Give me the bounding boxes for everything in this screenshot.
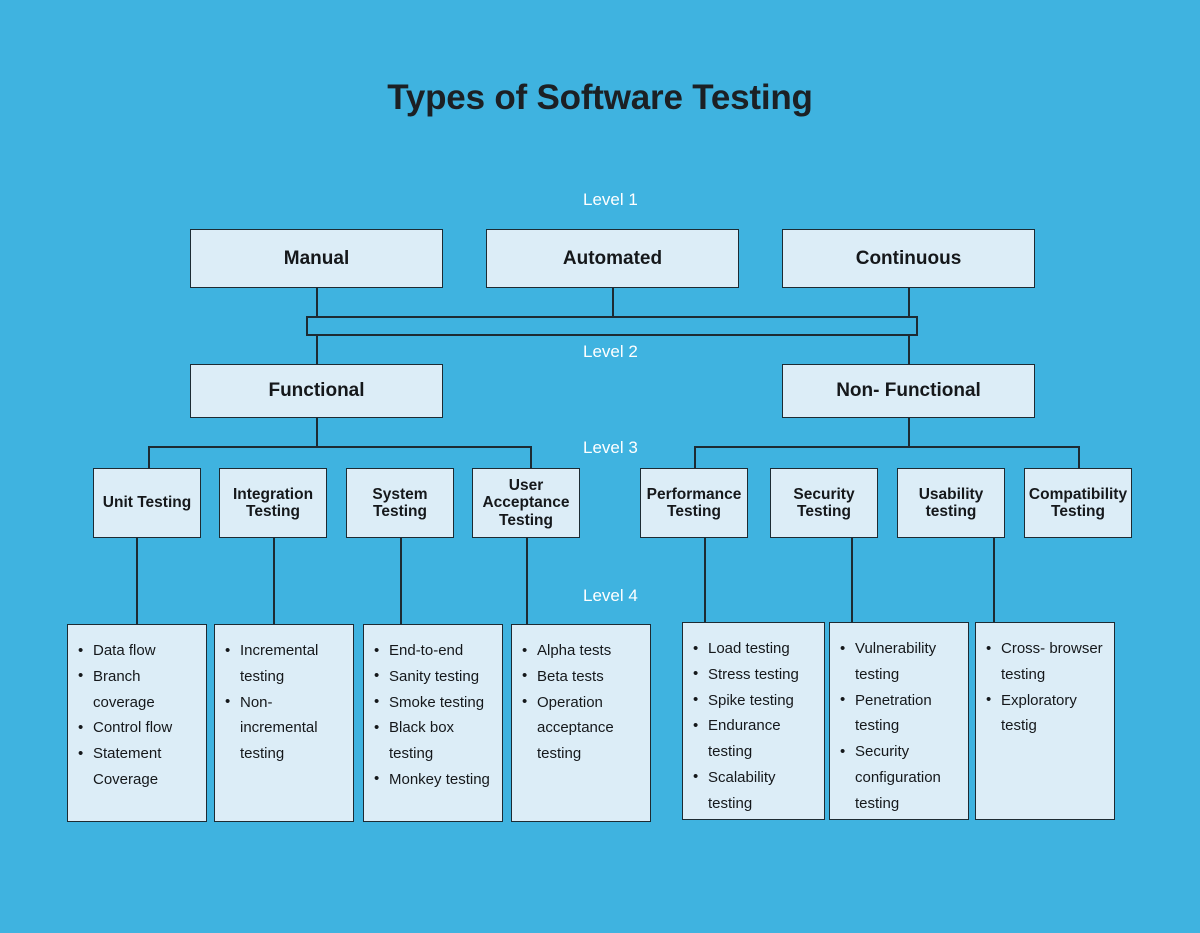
node-manual[interactable]: Manual xyxy=(190,229,443,288)
list-item: Spike testing xyxy=(693,688,818,714)
node-automated-label: Automated xyxy=(559,248,666,269)
connector-level1-bus-left-end xyxy=(306,316,308,336)
connector-performance-testing-down xyxy=(704,538,706,622)
connector-non-functional-bus-left-end xyxy=(694,446,696,468)
list-item: Black box testing xyxy=(374,715,496,767)
connector-level2-bus xyxy=(306,334,918,336)
node-system-testing[interactable]: System Testing xyxy=(346,468,454,538)
node-compatibility-testing-label: Compatibility Testing xyxy=(1025,486,1131,521)
node-user-acceptance-testing[interactable]: User Acceptance Testing xyxy=(472,468,580,538)
list-item: Sanity testing xyxy=(374,664,496,690)
connector-level1-bus xyxy=(306,316,918,318)
list-item: Load testing xyxy=(693,636,818,662)
list-item: Control flow xyxy=(78,715,200,741)
page-title: Types of Software Testing xyxy=(0,78,1200,118)
connector-functional-bus xyxy=(148,446,532,448)
connector-integration-testing-down xyxy=(273,538,275,624)
list-item: Exploratory testig xyxy=(986,688,1108,740)
leaf-list: Alpha testsBeta testsOperation acceptanc… xyxy=(512,625,650,767)
node-user-acceptance-testing-label: User Acceptance Testing xyxy=(473,477,579,529)
node-compatibility-testing[interactable]: Compatibility Testing xyxy=(1024,468,1132,538)
list-item: Branch coverage xyxy=(78,664,200,716)
connector-non-functional-bus xyxy=(694,446,1080,448)
leaf-list: Cross- browser testingExploratory testig xyxy=(976,623,1114,739)
connector-manual-down xyxy=(316,288,318,318)
node-automated[interactable]: Automated xyxy=(486,229,739,288)
leaf-list: Incremental testingNon-incremental testi… xyxy=(215,625,353,767)
node-integration-testing[interactable]: Integration Testing xyxy=(219,468,327,538)
list-item: Stress testing xyxy=(693,662,818,688)
list-item: Alpha tests xyxy=(522,638,644,664)
connector-non-functional-down xyxy=(908,418,910,448)
leaf-list: Load testingStress testingSpike testingE… xyxy=(683,623,824,817)
leaf-list: Data flowBranch coverageControl flowStat… xyxy=(68,625,206,793)
node-functional[interactable]: Functional xyxy=(190,364,443,418)
level-1-label: Level 1 xyxy=(583,190,638,210)
leaf-list: Vulnerability testingPenetration testing… xyxy=(830,623,968,817)
connector-compatibility-testing-down xyxy=(993,538,995,622)
list-item: Monkey testing xyxy=(374,767,496,793)
leafbox-security-testing: Vulnerability testingPenetration testing… xyxy=(829,622,969,820)
connector-to-functional xyxy=(316,334,318,364)
connector-user-acceptance-testing-down xyxy=(526,538,528,624)
list-item: Security configuration testing xyxy=(840,739,962,816)
node-performance-testing[interactable]: Performance Testing xyxy=(640,468,748,538)
node-continuous[interactable]: Continuous xyxy=(782,229,1035,288)
connector-non-functional-bus-right-end xyxy=(1078,446,1080,468)
connector-system-testing-down xyxy=(400,538,402,624)
diagram-canvas: Types of Software Testing Level 1 Level … xyxy=(0,0,1200,933)
list-item: Smoke testing xyxy=(374,690,496,716)
connector-level1-bus-right-end xyxy=(916,316,918,336)
level-3-label: Level 3 xyxy=(583,438,638,458)
list-item: Incremental testing xyxy=(225,638,347,690)
level-2-label: Level 2 xyxy=(583,342,638,362)
node-functional-label: Functional xyxy=(264,380,368,401)
node-performance-testing-label: Performance Testing xyxy=(641,486,747,521)
connector-automated-down xyxy=(612,288,614,318)
node-usability-testing-label: Usability testing xyxy=(898,486,1004,521)
list-item: Statement Coverage xyxy=(78,741,200,793)
node-non-functional[interactable]: Non- Functional xyxy=(782,364,1035,418)
list-item: Data flow xyxy=(78,638,200,664)
list-item: End-to-end xyxy=(374,638,496,664)
leaf-list: End-to-endSanity testingSmoke testingBla… xyxy=(364,625,502,793)
connector-unit-testing-down xyxy=(136,538,138,624)
leafbox-system-testing: End-to-endSanity testingSmoke testingBla… xyxy=(363,624,503,822)
list-item: Non-incremental testing xyxy=(225,690,347,767)
level-4-label: Level 4 xyxy=(583,586,638,606)
leafbox-performance-testing: Load testingStress testingSpike testingE… xyxy=(682,622,825,820)
node-security-testing[interactable]: Security Testing xyxy=(770,468,878,538)
node-manual-label: Manual xyxy=(280,248,353,269)
node-non-functional-label: Non- Functional xyxy=(832,380,985,401)
leafbox-unit-testing: Data flowBranch coverageControl flowStat… xyxy=(67,624,207,822)
leafbox-user-acceptance-testing: Alpha testsBeta testsOperation acceptanc… xyxy=(511,624,651,822)
list-item: Operation acceptance testing xyxy=(522,690,644,767)
node-usability-testing[interactable]: Usability testing xyxy=(897,468,1005,538)
node-security-testing-label: Security Testing xyxy=(771,486,877,521)
connector-continuous-down xyxy=(908,288,910,318)
connector-functional-bus-right-end xyxy=(530,446,532,468)
node-system-testing-label: System Testing xyxy=(347,486,453,521)
connector-security-testing-down xyxy=(851,538,853,622)
leafbox-integration-testing: Incremental testingNon-incremental testi… xyxy=(214,624,354,822)
node-continuous-label: Continuous xyxy=(852,248,966,269)
node-unit-testing[interactable]: Unit Testing xyxy=(93,468,201,538)
connector-to-non-functional xyxy=(908,334,910,364)
list-item: Cross- browser testing xyxy=(986,636,1108,688)
list-item: Scalability testing xyxy=(693,765,818,817)
connector-functional-bus-left-end xyxy=(148,446,150,468)
list-item: Beta tests xyxy=(522,664,644,690)
node-integration-testing-label: Integration Testing xyxy=(220,486,326,521)
list-item: Endurance testing xyxy=(693,713,818,765)
node-unit-testing-label: Unit Testing xyxy=(99,494,195,511)
leafbox-compatibility-testing: Cross- browser testingExploratory testig xyxy=(975,622,1115,820)
connector-functional-down xyxy=(316,418,318,448)
list-item: Vulnerability testing xyxy=(840,636,962,688)
list-item: Penetration testing xyxy=(840,688,962,740)
